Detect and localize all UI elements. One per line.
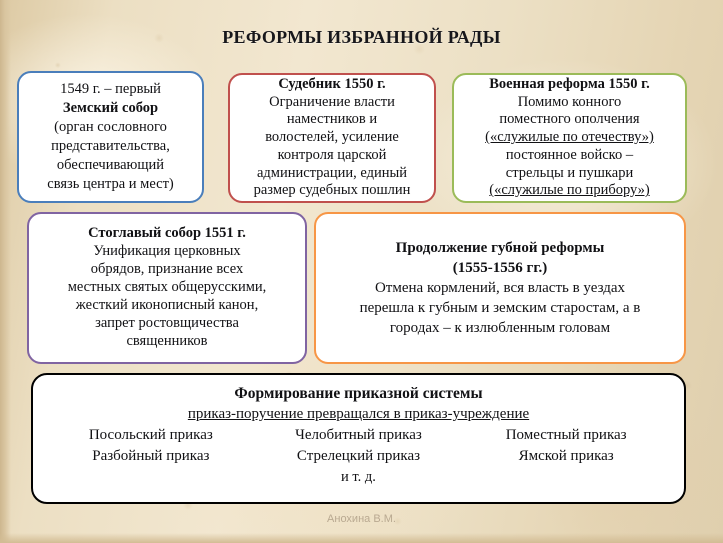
card-prikaznaya-sistema-heading: Формирование приказной системы [234,385,482,403]
card-gubnaya-reforma-heading: Продолжение губной реформы [323,238,677,258]
card-sudebnik-body: Судебник 1550 г. Ограничение власти наме… [230,76,434,200]
card-zemsky-sobor-line-6: связь центра и мест) [26,175,195,194]
card-voennaya-reforma: Военная реформа 1550 г. Помимо конного п… [452,73,687,203]
card-voennaya-reforma-line-6: стрельцы и пушкари [461,165,678,183]
list-item: Посольский приказ [47,427,255,444]
slide-canvas: РЕФОРМЫ ИЗБРАННОЙ РАДЫ 1549 г. – первый … [0,0,723,543]
slide-bottom-edge-shading [0,533,723,543]
card-sudebnik-line-2: Ограничение власти [237,94,427,112]
card-zemsky-sobor-body: 1549 г. – первый Земский собор (орган со… [19,80,202,193]
card-stoglavy-sobor-heading: Стоглавый собор 1551 г. [36,225,298,243]
card-gubnaya-reforma-line-5: городах – к излюбленным головам [323,318,677,338]
card-sudebnik-line-6: администрации, единый [237,165,427,183]
card-voennaya-reforma-line-7: («служилые по прибору») [461,182,678,200]
card-zemsky-sobor-line-1: 1549 г. – первый [26,80,195,99]
page-title: РЕФОРМЫ ИЗБРАННОЙ РАДЫ [0,27,723,48]
card-stoglavy-sobor-line-6: запрет ростовщичества [36,315,298,333]
prikaz-list-etc: и т. д. [47,469,670,486]
card-zemsky-sobor-line-5: обеспечивающий [26,156,195,175]
card-stoglavy-sobor-line-4: местных святых общерусскими, [36,279,298,297]
card-prikaznaya-sistema-subheading: приказ-поручение превращался в приказ-уч… [188,406,529,423]
card-stoglavy-sobor-line-2: Унификация церковных [36,243,298,261]
card-stoglavy-sobor-body: Стоглавый собор 1551 г. Унификация церко… [29,225,305,351]
card-voennaya-reforma-line-4: («служилые по отечеству») [461,129,678,147]
card-zemsky-sobor-line-4: представительства, [26,137,195,156]
card-voennaya-reforma-heading: Военная реформа 1550 г. [461,76,678,94]
card-stoglavy-sobor-line-7: священников [36,333,298,351]
card-voennaya-reforma-body: Военная реформа 1550 г. Помимо конного п… [454,76,685,200]
list-item: Челобитный приказ [255,427,463,444]
card-gubnaya-reforma-line-3: Отмена кормлений, вся власть в уездах [323,278,677,298]
card-sudebnik: Судебник 1550 г. Ограничение власти наме… [228,73,436,203]
card-stoglavy-sobor: Стоглавый собор 1551 г. Унификация церко… [27,212,307,364]
card-gubnaya-reforma-body: Продолжение губной реформы (1555-1556 гг… [316,238,684,338]
card-sudebnik-line-3: наместников и [237,111,427,129]
card-stoglavy-sobor-line-5: жесткий иконописный канон, [36,297,298,315]
list-item: Ямской приказ [462,448,670,465]
card-sudebnik-heading: Судебник 1550 г. [237,76,427,94]
card-sudebnik-line-4: волостелей, усиление [237,129,427,147]
prikaz-list: Посольский приказ Челобитный приказ Поме… [33,427,684,486]
card-stoglavy-sobor-line-3: обрядов, признание всех [36,261,298,279]
card-zemsky-sobor-line-3: (орган сословного [26,118,195,137]
list-item: Разбойный приказ [47,448,255,465]
list-item: Стрелецкий приказ [255,448,463,465]
card-voennaya-reforma-line-2: Помимо конного [461,94,678,112]
slide-left-edge-shading [0,0,11,543]
card-gubnaya-reforma-heading-dates: (1555-1556 гг.) [323,258,677,278]
card-gubnaya-reforma-line-4: перешла к губным и земским старостам, а … [323,298,677,318]
card-sudebnik-line-7: размер судебных пошлин [237,182,427,200]
card-voennaya-reforma-line-5: постоянное войско – [461,147,678,165]
card-gubnaya-reforma: Продолжение губной реформы (1555-1556 гг… [314,212,686,364]
list-item: Поместный приказ [462,427,670,444]
card-prikaznaya-sistema: Формирование приказной системы приказ-по… [31,373,686,504]
footer-credit: Анохина В.М. [0,513,723,525]
card-voennaya-reforma-line-3: поместного ополчения [461,111,678,129]
card-sudebnik-line-5: контроля царской [237,147,427,165]
card-zemsky-sobor-heading: Земский собор [26,99,195,118]
card-zemsky-sobor: 1549 г. – первый Земский собор (орган со… [17,71,204,203]
